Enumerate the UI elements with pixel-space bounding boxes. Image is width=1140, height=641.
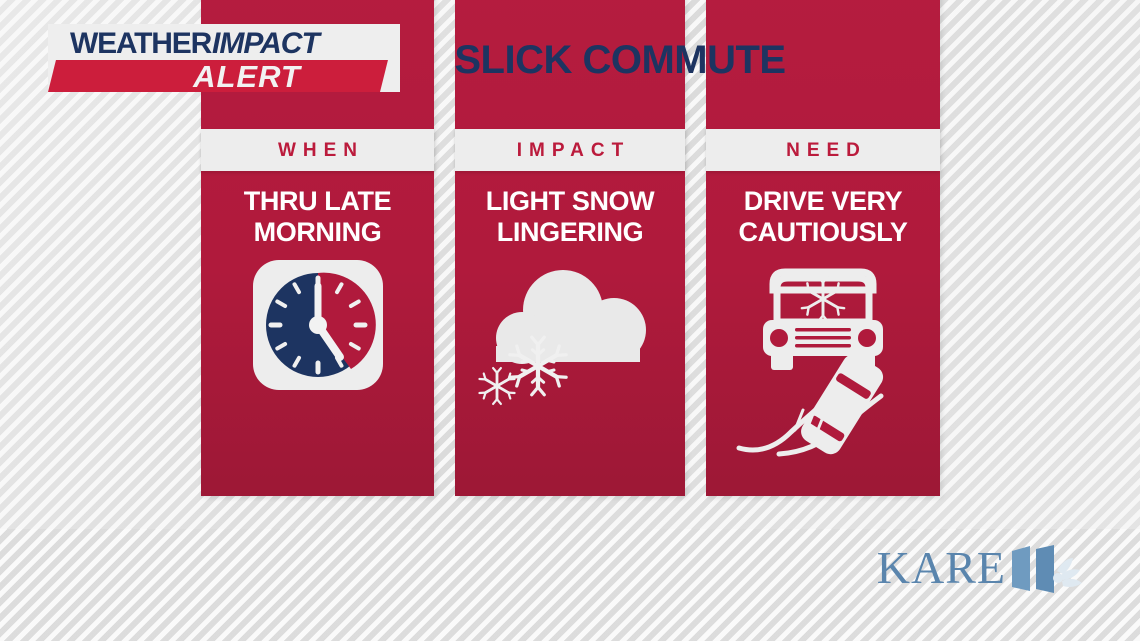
alert-word-weather: WEATHER <box>70 27 211 60</box>
car-snow-skid-icon <box>733 258 913 458</box>
panel-title-when: THRU LATE MORNING <box>207 186 428 248</box>
nbc-peacock-icon <box>1010 543 1084 595</box>
panel-icon-slot-when <box>201 258 434 448</box>
panel-icon-slot-need <box>706 258 940 448</box>
panel-header-impact: IMPACT <box>455 129 685 171</box>
car-front-snowflake-icon <box>763 272 883 370</box>
panel-header-label-impact: IMPACT <box>510 141 630 160</box>
panel-icon-slot-impact <box>455 258 685 448</box>
alert-wordmark: WEATHERIMPACT <box>70 29 319 59</box>
panel-header-when: WHEN <box>201 129 434 171</box>
clock-icon <box>251 258 385 392</box>
panel-header-label-when: WHEN <box>271 141 364 160</box>
page-title: SLICK COMMUTE <box>420 38 820 82</box>
alert-banner-label: ALERT <box>132 60 362 92</box>
panel-title-impact: LIGHT SNOW LINGERING <box>461 186 679 248</box>
weather-impact-alert-badge: WEATHERIMPACT ALERT <box>48 24 400 92</box>
panel-header-label-need: NEED <box>779 141 867 160</box>
kare11-logo: KARE <box>877 543 1084 593</box>
snow-cloud-icon <box>475 258 665 408</box>
panel-title-need: DRIVE VERY CAUTIOUSLY <box>712 186 934 248</box>
channel-eleven-mark <box>1010 543 1084 593</box>
panel-header-need: NEED <box>706 129 940 171</box>
car-skid-icon <box>739 350 887 458</box>
kare-wordmark: KARE <box>877 545 1006 591</box>
alert-word-impact: IMPACT <box>212 27 319 60</box>
